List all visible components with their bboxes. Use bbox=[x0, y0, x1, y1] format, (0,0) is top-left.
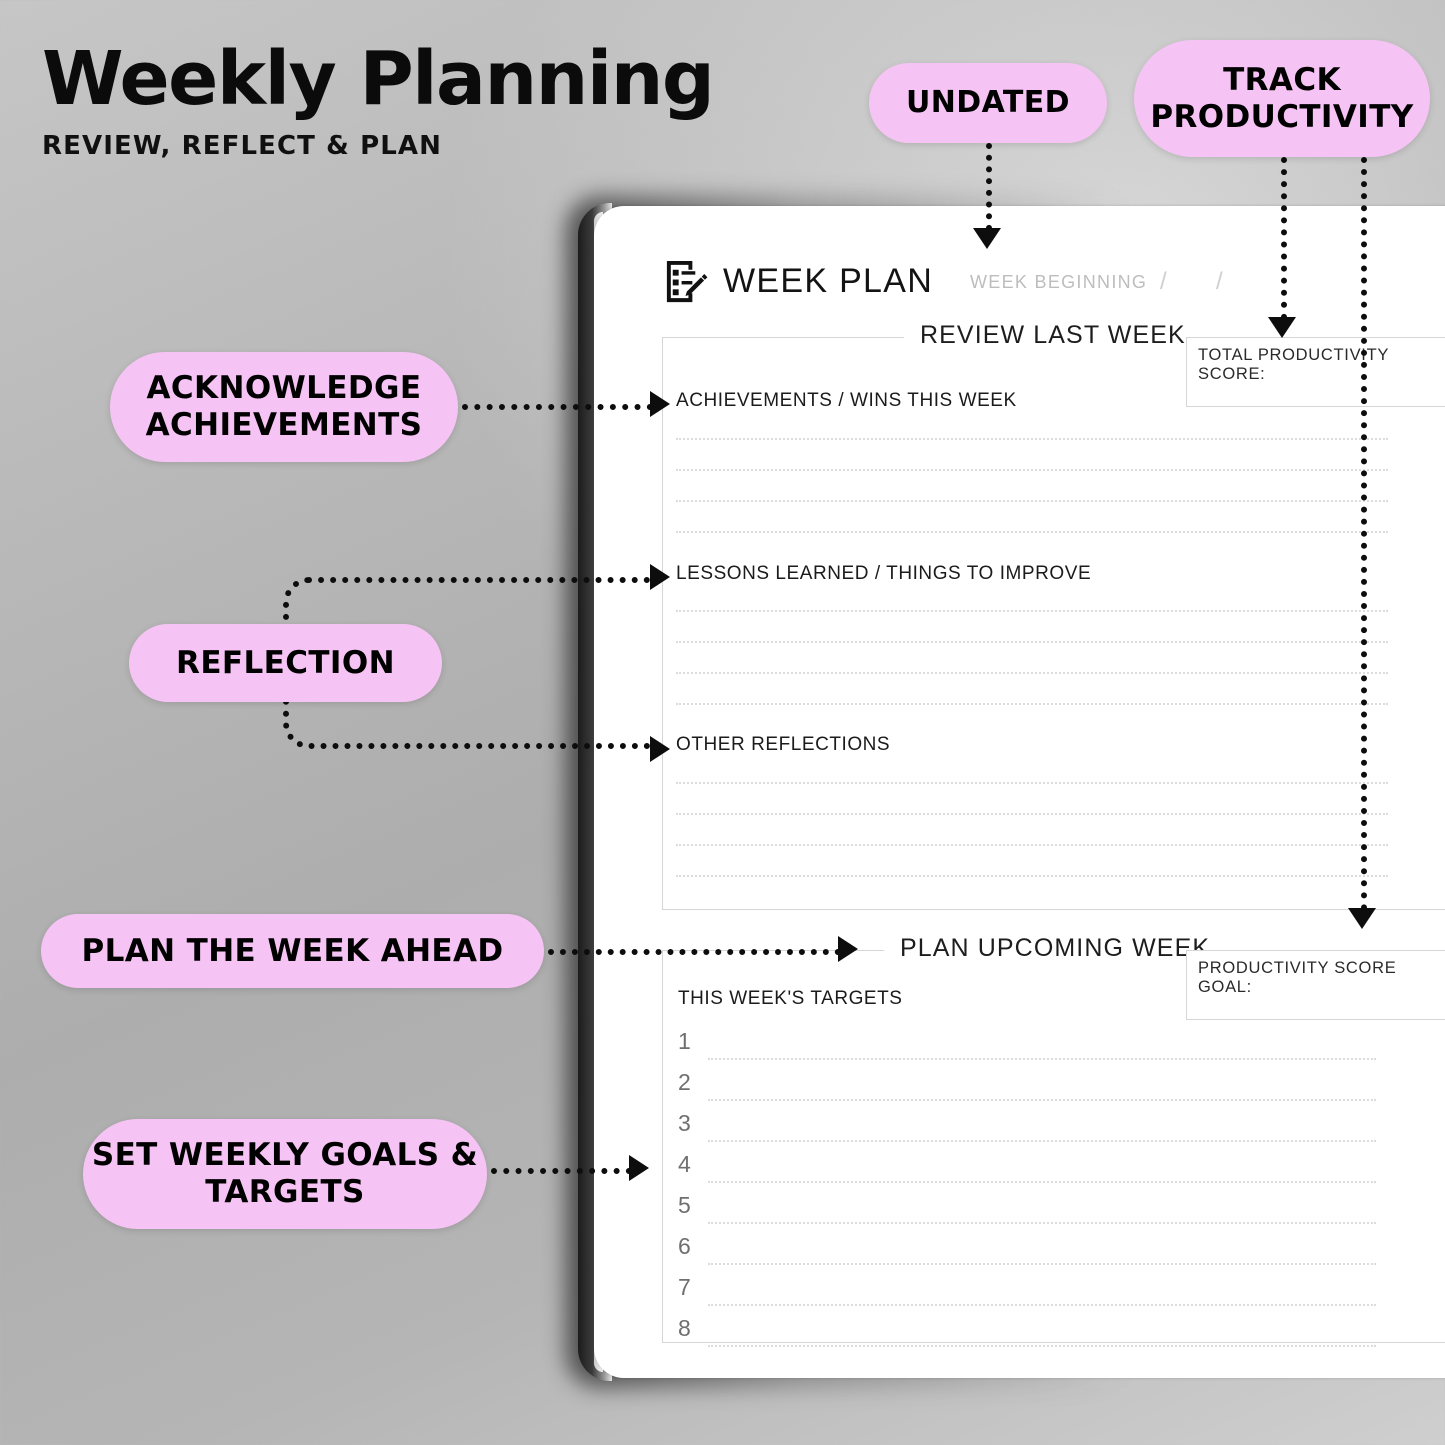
target-row[interactable]: 2 bbox=[678, 1069, 1378, 1110]
connector-track-score-arrowhead bbox=[1268, 317, 1296, 338]
badge-set-weekly-goals-targets[interactable]: SET WEEKLY GOALS & TARGETS bbox=[83, 1119, 487, 1229]
target-writing-line[interactable] bbox=[708, 1181, 1376, 1183]
page-header: Weekly Planning REVIEW, REFLECT & PLAN bbox=[42, 42, 713, 161]
clipboard-pencil-icon bbox=[662, 258, 709, 305]
connector-reflection-lower-arrowhead bbox=[650, 736, 670, 762]
connector-undated-arrowhead bbox=[973, 228, 1001, 249]
target-number: 8 bbox=[678, 1315, 691, 1342]
targets-list: 1 2 3 4 5 6 7 8 bbox=[678, 1028, 1378, 1356]
badge-acknowledge-achievements[interactable]: ACKNOWLEDGE ACHIEVEMENTS bbox=[110, 352, 458, 462]
this-weeks-targets-label: THIS WEEK'S TARGETS bbox=[678, 988, 903, 1010]
target-number: 2 bbox=[678, 1069, 691, 1096]
target-number: 4 bbox=[678, 1151, 691, 1178]
connector-reflection-lower bbox=[283, 700, 653, 749]
target-number: 6 bbox=[678, 1233, 691, 1260]
target-row[interactable]: 4 bbox=[678, 1151, 1378, 1192]
page-title: Weekly Planning bbox=[42, 42, 713, 117]
target-writing-line[interactable] bbox=[708, 1058, 1376, 1060]
badge-reflection[interactable]: REFLECTION bbox=[129, 624, 442, 702]
target-writing-line[interactable] bbox=[708, 1304, 1376, 1306]
badge-track-productivity[interactable]: TRACK PRODUCTIVITY bbox=[1134, 40, 1430, 157]
review-last-week-box bbox=[662, 337, 1445, 910]
field-label-lessons-learned: LESSONS LEARNED / THINGS TO IMPROVE bbox=[676, 563, 1091, 585]
connector-set-goals-arrowhead bbox=[629, 1155, 649, 1181]
badge-undated[interactable]: UNDATED bbox=[869, 63, 1107, 143]
review-section-heading: REVIEW LAST WEEK bbox=[904, 321, 1202, 350]
target-writing-line[interactable] bbox=[708, 1345, 1376, 1347]
productivity-score-goal-label: PRODUCTIVITY SCORE GOAL: bbox=[1198, 959, 1445, 997]
target-number: 7 bbox=[678, 1274, 691, 1301]
target-number: 3 bbox=[678, 1110, 691, 1137]
target-number: 1 bbox=[678, 1028, 691, 1055]
target-row[interactable]: 7 bbox=[678, 1274, 1378, 1315]
target-row[interactable]: 1 bbox=[678, 1028, 1378, 1069]
week-beginning-label: WEEK BEGINNING bbox=[970, 272, 1147, 293]
target-row[interactable]: 6 bbox=[678, 1233, 1378, 1274]
target-row[interactable]: 8 bbox=[678, 1315, 1378, 1356]
badge-plan-the-week-ahead[interactable]: PLAN THE WEEK AHEAD bbox=[41, 914, 544, 988]
week-plan-title-row: WEEK PLAN bbox=[662, 258, 933, 305]
connector-acknowledge-arrowhead bbox=[650, 391, 670, 417]
date-separator-1: / bbox=[1160, 268, 1167, 296]
field-label-other-reflections: OTHER REFLECTIONS bbox=[676, 734, 890, 756]
target-writing-line[interactable] bbox=[708, 1222, 1376, 1224]
connector-track-goal bbox=[1361, 157, 1367, 911]
connector-plan-week-arrowhead bbox=[838, 936, 858, 962]
connector-acknowledge bbox=[462, 404, 653, 410]
target-writing-line[interactable] bbox=[708, 1263, 1376, 1265]
week-plan-title: WEEK PLAN bbox=[723, 262, 933, 301]
target-row[interactable]: 3 bbox=[678, 1110, 1378, 1151]
connector-track-score bbox=[1281, 157, 1287, 320]
connector-plan-week bbox=[548, 949, 841, 955]
connector-track-goal-arrowhead bbox=[1348, 908, 1376, 929]
field-label-achievements: ACHIEVEMENTS / WINS THIS WEEK bbox=[676, 390, 1017, 412]
target-number: 5 bbox=[678, 1192, 691, 1219]
connector-undated bbox=[986, 143, 992, 231]
target-writing-line[interactable] bbox=[708, 1140, 1376, 1142]
page-subtitle: REVIEW, REFLECT & PLAN bbox=[42, 131, 713, 161]
target-row[interactable]: 5 bbox=[678, 1192, 1378, 1233]
target-writing-line[interactable] bbox=[708, 1099, 1376, 1101]
connector-reflection-upper-arrowhead bbox=[650, 564, 670, 590]
plan-section-heading: PLAN UPCOMING WEEK bbox=[884, 934, 1226, 963]
connector-reflection-upper bbox=[283, 577, 653, 629]
total-productivity-score-label: TOTAL PRODUCTIVITY SCORE: bbox=[1198, 346, 1445, 384]
connector-set-goals bbox=[491, 1168, 632, 1174]
planner-page: WEEK PLAN WEEK BEGINNING / / REVIEW LAST… bbox=[594, 206, 1445, 1378]
date-separator-2: / bbox=[1216, 268, 1223, 296]
